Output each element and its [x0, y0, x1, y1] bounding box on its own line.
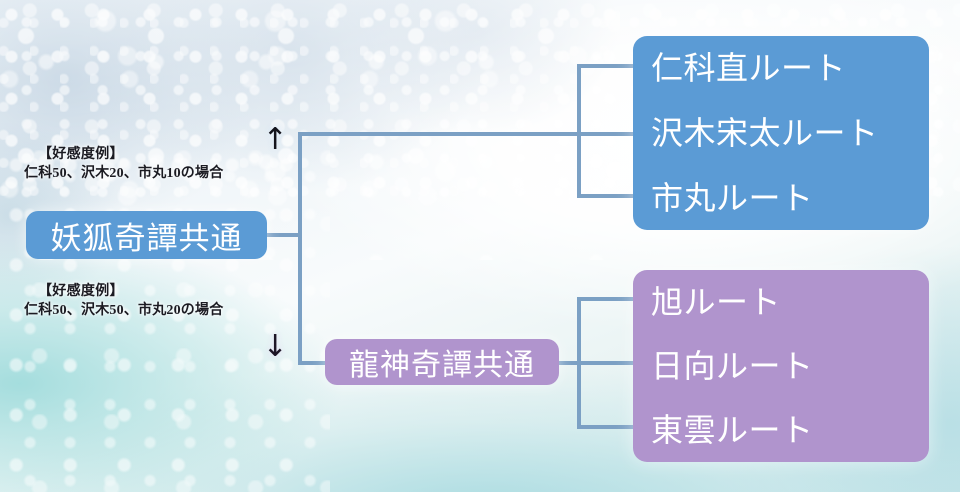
note-affection-example-upper: 【好感度例】 仁科50、沢木20、市丸10の場合 — [24, 146, 223, 184]
bracket-ryujin-route-3 — [577, 425, 637, 429]
bracket-youko-route-2 — [577, 132, 637, 136]
bracket-ryujin-route-1 — [577, 297, 637, 301]
note-upper-heading: 【好感度例】 — [24, 146, 223, 165]
arrow-up-icon: ↑ — [264, 123, 286, 157]
route-panel-youko: 仁科直ルート 沢木宋太ルート 市丸ルート — [633, 36, 929, 230]
note-affection-example-lower: 【好感度例】 仁科50、沢木50、市丸20の場合 — [24, 283, 223, 321]
node-youko-kitan-common-label: 妖狐奇譚共通 — [51, 213, 243, 258]
route-item[interactable]: 旭ルート — [633, 270, 929, 334]
note-lower-heading: 【好感度例】 — [24, 283, 223, 302]
bracket-youko-route-3 — [577, 194, 637, 198]
connector-lower-branch — [298, 361, 328, 365]
flowchart-canvas: 【好感度例】 仁科50、沢木20、市丸10の場合 【好感度例】 仁科50、沢木5… — [0, 0, 960, 492]
connector-trunk-stub — [267, 233, 302, 237]
connector-trunk-vertical — [298, 132, 302, 365]
route-item[interactable]: 市丸ルート — [633, 165, 929, 230]
route-item[interactable]: 仁科直ルート — [633, 36, 929, 101]
bracket-ryujin-route-2 — [577, 361, 637, 365]
arrow-down-icon: ↓ — [264, 330, 286, 364]
route-panel-ryujin: 旭ルート 日向ルート 東雲ルート — [633, 270, 929, 462]
background-speckle-right — [0, 150, 330, 492]
node-youko-kitan-common[interactable]: 妖狐奇譚共通 — [26, 211, 267, 259]
note-upper-body: 仁科50、沢木20、市丸10の場合 — [24, 165, 223, 184]
node-ryujin-kitan-common-label: 龍神奇譚共通 — [349, 340, 535, 384]
route-item[interactable]: 沢木宋太ルート — [633, 101, 929, 166]
bracket-youko-vertical — [577, 64, 581, 198]
node-ryujin-kitan-common[interactable]: 龍神奇譚共通 — [325, 339, 559, 385]
route-item[interactable]: 東雲ルート — [633, 398, 929, 462]
note-lower-body: 仁科50、沢木50、市丸20の場合 — [24, 302, 223, 321]
route-item[interactable]: 日向ルート — [633, 334, 929, 398]
bracket-youko-route-1 — [577, 64, 637, 68]
